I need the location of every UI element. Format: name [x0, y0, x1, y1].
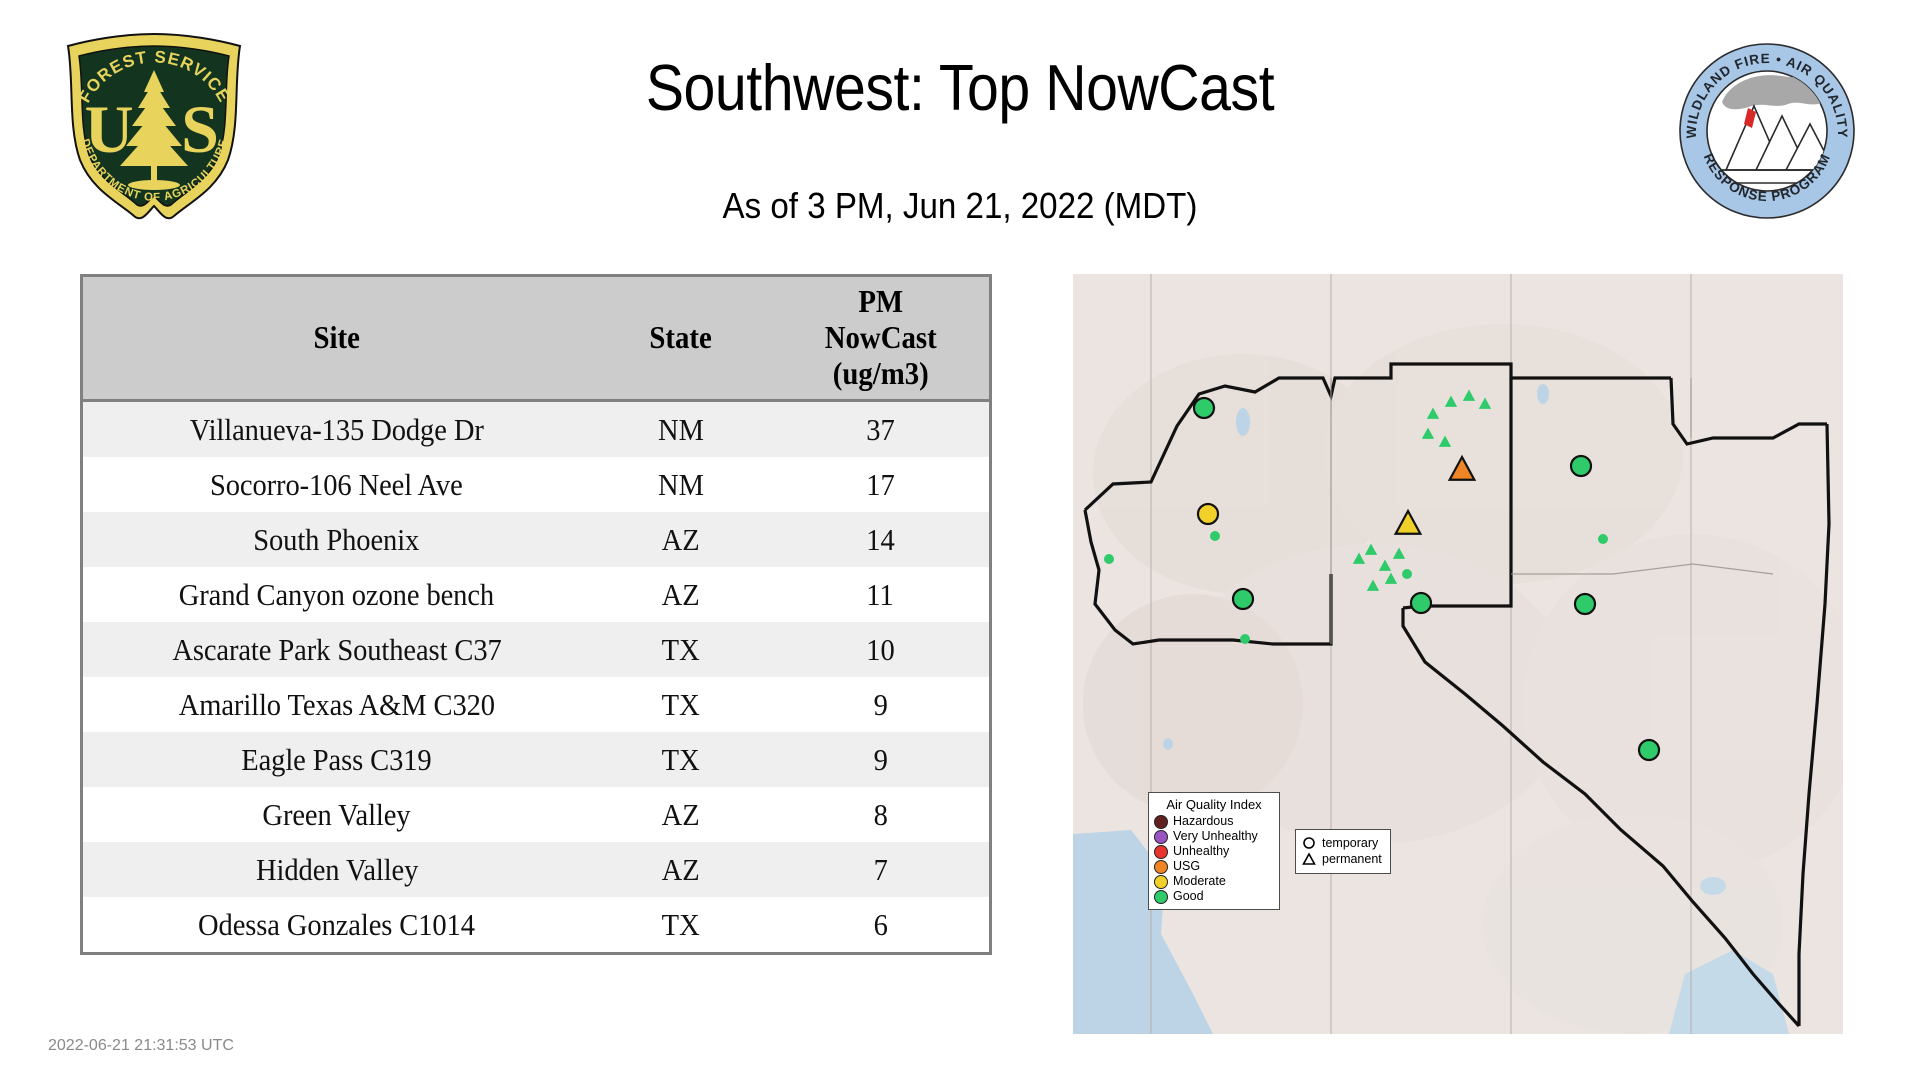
table-row: Odessa Gonzales C1014TX6: [83, 897, 989, 952]
aqi-swatch-icon: [1154, 830, 1168, 844]
aqi-legend-row: USG: [1154, 859, 1274, 874]
cell-pm: 7: [772, 842, 989, 897]
cell-state: NM: [590, 457, 771, 512]
legend-permanent-label: permanent: [1322, 851, 1382, 867]
table-row: Socorro-106 Neel AveNM17: [83, 457, 989, 512]
cell-state: AZ: [590, 842, 771, 897]
cell-state: AZ: [590, 567, 771, 622]
monitor-marker-circle[interactable]: [1233, 589, 1253, 609]
legend-permanent: permanent: [1302, 851, 1382, 867]
aqi-legend-label: Good: [1173, 889, 1204, 904]
aqi-swatch-icon: [1154, 890, 1168, 904]
cell-pm-text: 10: [866, 632, 895, 668]
legend-temporary-label: temporary: [1322, 835, 1378, 851]
aqi-swatch-icon: [1154, 845, 1168, 859]
cell-pm-text: 17: [866, 467, 895, 503]
monitor-marker-circle[interactable]: [1198, 504, 1218, 524]
cell-site: Ascarate Park Southeast C37: [83, 622, 590, 677]
cell-pm: 9: [772, 732, 989, 787]
aqi-legend-row: Good: [1154, 889, 1274, 904]
cell-state-text: TX: [662, 632, 700, 668]
cell-site: Eagle Pass C319: [83, 732, 590, 787]
aqi-legend-label: Hazardous: [1173, 814, 1233, 829]
aqi-legend-label: USG: [1173, 859, 1200, 874]
cell-site-text: Villanueva-135 Dodge Dr: [190, 412, 484, 448]
table-row: South PhoenixAZ14: [83, 512, 989, 567]
table-row: Green ValleyAZ8: [83, 787, 989, 842]
monitor-location-map[interactable]: Air Quality Index HazardousVery Unhealth…: [1073, 274, 1843, 1034]
aqi-legend: Air Quality Index HazardousVery Unhealth…: [1148, 792, 1280, 910]
page-subtitle: As of 3 PM, Jun 21, 2022 (MDT): [316, 185, 1604, 227]
cell-site: Socorro-106 Neel Ave: [83, 457, 590, 512]
cell-state: NM: [590, 401, 771, 458]
monitor-marker-circle[interactable]: [1104, 554, 1114, 564]
table-row: Villanueva-135 Dodge DrNM37: [83, 401, 989, 458]
cell-site-text: South Phoenix: [254, 522, 420, 558]
cell-pm: 14: [772, 512, 989, 567]
monitor-marker-circle[interactable]: [1194, 398, 1214, 418]
page-title: Southwest: Top NowCast: [344, 50, 1576, 125]
monitor-marker-circle[interactable]: [1598, 534, 1608, 544]
cell-site-text: Grand Canyon ozone bench: [179, 577, 494, 613]
cell-state-text: NM: [658, 467, 704, 503]
cell-state: AZ: [590, 787, 771, 842]
cell-pm-text: 9: [873, 742, 887, 778]
monitor-marker-circle[interactable]: [1575, 594, 1595, 614]
monitor-marker-circle[interactable]: [1571, 456, 1591, 476]
cell-state-text: AZ: [662, 852, 700, 888]
cell-pm: 17: [772, 457, 989, 512]
table-row: Grand Canyon ozone benchAZ11: [83, 567, 989, 622]
top-nowcast-table: Site State PM NowCast (ug/m3) Villanueva…: [80, 274, 992, 955]
marker-type-legend: temporary permanent: [1295, 829, 1391, 874]
monitor-marker-circle[interactable]: [1210, 531, 1220, 541]
cell-pm-text: 14: [866, 522, 895, 558]
cell-site-text: Odessa Gonzales C1014: [198, 907, 475, 943]
aqi-swatch-icon: [1154, 860, 1168, 874]
monitor-marker-circle[interactable]: [1402, 569, 1412, 579]
aqi-legend-label: Very Unhealthy: [1173, 829, 1258, 844]
legend-temporary: temporary: [1302, 835, 1382, 851]
table-row: Ascarate Park Southeast C37TX10: [83, 622, 989, 677]
cell-site-text: Hidden Valley: [256, 852, 418, 888]
circle-icon: [1302, 836, 1316, 850]
cell-state: AZ: [590, 512, 771, 567]
cell-site: Grand Canyon ozone bench: [83, 567, 590, 622]
aqi-legend-title: Air Quality Index: [1154, 797, 1274, 812]
cell-site: Villanueva-135 Dodge Dr: [83, 401, 590, 458]
cell-site: Odessa Gonzales C1014: [83, 897, 590, 952]
aqi-legend-label: Unhealthy: [1173, 844, 1229, 859]
cell-state-text: TX: [662, 907, 700, 943]
cell-state-text: AZ: [662, 522, 700, 558]
cell-state: TX: [590, 677, 771, 732]
aqi-legend-row: Hazardous: [1154, 814, 1274, 829]
cell-site: Amarillo Texas A&M C320: [83, 677, 590, 732]
cell-pm-text: 8: [873, 797, 887, 833]
wildland-fire-air-quality-response-program-logo: WILDLAND FIRE • AIR QUALITY RESPONSE PRO…: [1678, 42, 1856, 220]
cell-pm: 37: [772, 401, 989, 458]
column-header-state: State: [599, 277, 762, 401]
table-header-row: Site State PM NowCast (ug/m3): [83, 277, 989, 401]
cell-site: Green Valley: [83, 787, 590, 842]
cell-state-text: NM: [658, 412, 704, 448]
column-header-site: Site: [108, 277, 565, 401]
aqi-legend-row: Very Unhealthy: [1154, 829, 1274, 844]
cell-state-text: TX: [662, 742, 700, 778]
aqi-legend-label: Moderate: [1173, 874, 1226, 889]
aqi-swatch-icon: [1154, 875, 1168, 889]
cell-pm: 6: [772, 897, 989, 952]
cell-state: TX: [590, 622, 771, 677]
cell-state-text: TX: [662, 687, 700, 723]
table-row: Eagle Pass C319TX9: [83, 732, 989, 787]
cell-site-text: Amarillo Texas A&M C320: [179, 687, 495, 723]
cell-pm: 9: [772, 677, 989, 732]
cell-pm: 11: [772, 567, 989, 622]
generation-timestamp: 2022-06-21 21:31:53 UTC: [48, 1037, 234, 1055]
cell-state: TX: [590, 732, 771, 787]
cell-pm-text: 6: [873, 907, 887, 943]
cell-site-text: Eagle Pass C319: [242, 742, 432, 778]
nowcast-report-page: U S FOREST SERVICE DEPARTMENT OF AGRICUL…: [0, 0, 1920, 1080]
aqi-legend-row: Unhealthy: [1154, 844, 1274, 859]
cell-site-text: Green Valley: [263, 797, 411, 833]
monitor-marker-circle[interactable]: [1411, 593, 1431, 613]
usfs-shield-logo: U S FOREST SERVICE DEPARTMENT OF AGRICUL…: [52, 30, 257, 225]
table-row: Hidden ValleyAZ7: [83, 842, 989, 897]
cell-site: South Phoenix: [83, 512, 590, 567]
triangle-icon: [1302, 852, 1316, 866]
cell-pm: 8: [772, 787, 989, 842]
cell-pm-text: 7: [873, 852, 887, 888]
cell-pm: 10: [772, 622, 989, 677]
monitor-marker-circle[interactable]: [1639, 740, 1659, 760]
column-header-pm-nowcast: PM NowCast (ug/m3): [782, 277, 978, 401]
aqi-swatch-icon: [1154, 815, 1168, 829]
cell-site-text: Ascarate Park Southeast C37: [172, 632, 501, 668]
monitor-marker-circle[interactable]: [1240, 634, 1250, 644]
aqi-legend-row: Moderate: [1154, 874, 1274, 889]
cell-pm-text: 11: [867, 577, 894, 613]
cell-state-text: AZ: [662, 577, 700, 613]
cell-state-text: AZ: [662, 797, 700, 833]
cell-site-text: Socorro-106 Neel Ave: [210, 467, 463, 503]
cell-state: TX: [590, 897, 771, 952]
cell-pm-text: 9: [873, 687, 887, 723]
cell-site: Hidden Valley: [83, 842, 590, 897]
cell-pm-text: 37: [866, 412, 895, 448]
table-row: Amarillo Texas A&M C320TX9: [83, 677, 989, 732]
